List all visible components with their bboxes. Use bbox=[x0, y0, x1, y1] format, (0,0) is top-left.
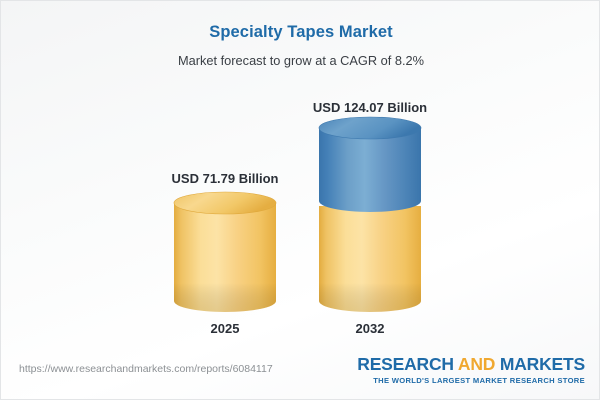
bar-2025-bottom-shade bbox=[174, 283, 276, 312]
report-url-link[interactable]: https://www.researchandmarkets.com/repor… bbox=[19, 363, 273, 375]
bar-2032-bottom-shade bbox=[319, 283, 421, 312]
chart-plot-area: USD 71.79 Billion USD 124.07 Billion 202… bbox=[1, 1, 600, 400]
category-label-2032: 2032 bbox=[320, 321, 420, 336]
logo-wordmark: RESEARCH AND MARKETS bbox=[357, 356, 585, 374]
chart-canvas: Specialty Tapes Market Market forecast t… bbox=[0, 0, 600, 400]
logo-tagline: THE WORLD'S LARGEST MARKET RESEARCH STOR… bbox=[357, 377, 585, 385]
bar-2032-growth-body bbox=[319, 128, 421, 212]
bar-2032-top-ellipse bbox=[319, 117, 421, 139]
value-label-2032: USD 124.07 Billion bbox=[270, 100, 470, 115]
bar-2032[interactable] bbox=[319, 117, 421, 312]
value-label-2025: USD 71.79 Billion bbox=[125, 171, 325, 186]
research-and-markets-logo[interactable]: RESEARCH AND MARKETS THE WORLD'S LARGEST… bbox=[357, 356, 585, 384]
bar-2025[interactable] bbox=[174, 192, 276, 312]
cylinder-bars-svg bbox=[1, 1, 600, 400]
category-label-2025: 2025 bbox=[175, 321, 275, 336]
logo-word-research: RESEARCH bbox=[357, 354, 458, 374]
logo-word-and: AND bbox=[458, 354, 495, 374]
logo-word-markets: MARKETS bbox=[495, 354, 585, 374]
bar-2025-top-ellipse bbox=[174, 192, 276, 214]
